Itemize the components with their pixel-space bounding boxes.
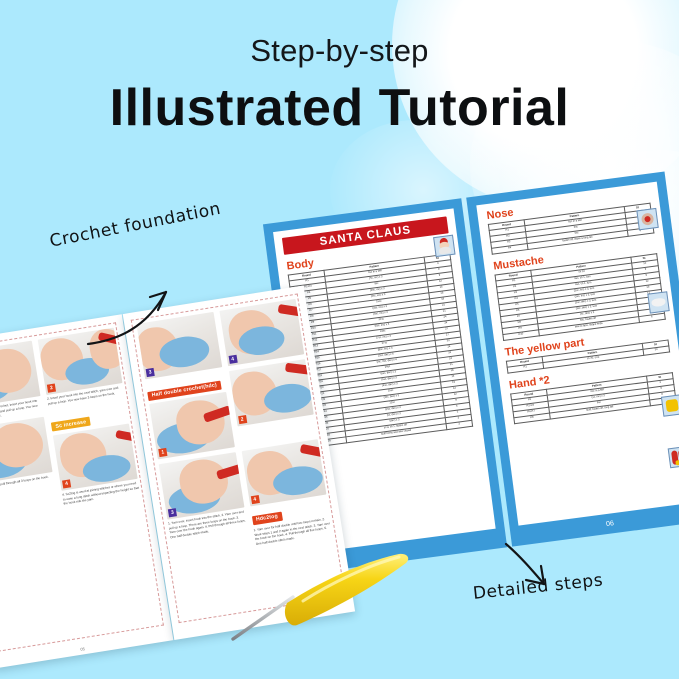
tutorial-step: 4 Hdc2tog 1. Yarn over for half double u… — [241, 439, 333, 546]
step-number: 1 — [158, 448, 167, 457]
step-number: 3 — [168, 508, 177, 517]
badge-hdc2tog: Hdc2tog — [251, 511, 282, 525]
tutorial-photo: 2 — [228, 359, 313, 426]
tutorial-photo: 4 — [219, 299, 304, 366]
tutorial-photo: 2 — [38, 328, 123, 395]
step-number: 2 — [47, 384, 56, 393]
mustache-thumbnail-icon — [647, 291, 669, 313]
tutorial-photo: 3 — [0, 417, 53, 484]
poster-canvas: Step-by-step Illustrated Tutorial SANTA … — [0, 0, 679, 679]
tutorial-step: 3 1. Yarn over, insert hook into the sti… — [159, 452, 251, 559]
tutorial-step: Sc increase 4 4. Sc2tog is used at joini… — [50, 404, 140, 507]
tutorial-photo: 4 — [53, 423, 138, 490]
tutorial-step: 3 3. Yarn over and pull through all 3 lo… — [0, 417, 58, 520]
santa-thumbnail-icon — [433, 235, 455, 257]
tutorial-step: Half double crochet(hdc) 1 — [146, 372, 234, 459]
step-number: 2 — [238, 415, 247, 424]
tutorial-photo: 4 — [241, 439, 326, 506]
page-title: Illustrated Tutorial — [0, 78, 679, 138]
tutorial-step: 3 — [136, 312, 221, 379]
crochet-foundation-tutorial-book: 1 1. To decrease in single crochet, inse… — [0, 285, 356, 674]
tutorial-step: 4 — [219, 299, 304, 366]
tutorial-step: 1 1. To decrease in single crochet, inse… — [0, 341, 43, 424]
tutorial-step: 2 — [228, 359, 316, 446]
tutorial-photo: 1 — [149, 392, 234, 459]
tutorial-photo: 3 — [159, 452, 244, 519]
tutorial-photo: 3 — [136, 312, 221, 379]
nose-thumbnail-icon — [636, 208, 658, 230]
tutorial-step: 2 2. Insert your hook into the next stit… — [38, 328, 125, 411]
kicker-text: Step-by-step — [0, 33, 679, 69]
step-number: 3 — [146, 368, 155, 377]
yellow-part-thumbnail-icon — [661, 394, 679, 416]
hand-thumbnail-icon — [668, 446, 679, 468]
step-number: 4 — [228, 355, 237, 364]
step-number: 4 — [250, 495, 259, 504]
step-number: 4 — [62, 479, 71, 488]
